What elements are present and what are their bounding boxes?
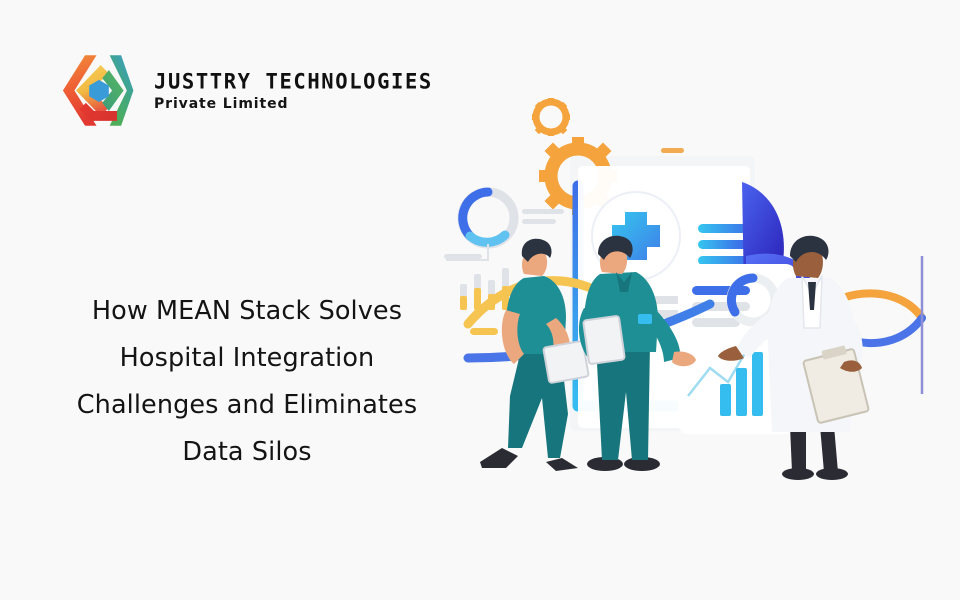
company-suffix: Private Limited [154, 96, 433, 112]
clipboard-icon [583, 316, 625, 365]
shoe-right [816, 468, 848, 480]
leg-left [790, 426, 806, 472]
yellow-chip-accent [470, 328, 498, 335]
left-label-lines [522, 209, 564, 224]
gear-small-icon [532, 98, 570, 136]
headline-line-2: Hospital Integration [62, 335, 432, 382]
leg-right [820, 426, 838, 472]
pocket-badge [638, 314, 652, 324]
headline-line-3: Challenges and Eliminates [62, 382, 432, 429]
hexagon-chevron-logo-icon [58, 52, 140, 128]
brand-lockup: JUSTTRY TECHNOLOGIES Private Limited [58, 52, 433, 128]
shoe-left [782, 468, 814, 480]
headline-line-4: Data Silos [62, 429, 432, 476]
company-name: JUSTTRY TECHNOLOGIES [154, 68, 433, 93]
poster-canvas: JUSTTRY TECHNOLOGIES Private Limited How… [0, 0, 960, 600]
donut-chart-left [462, 192, 514, 244]
shoe-left [480, 448, 518, 468]
headline-line-1: How MEAN Stack Solves [62, 288, 432, 335]
orange-dash-accent [661, 148, 684, 153]
page-title: How MEAN Stack Solves Hospital Integrati… [62, 288, 432, 476]
left-label-small [444, 254, 482, 259]
tablet-icon [543, 341, 589, 383]
shoe-right [546, 458, 578, 471]
brand-text-block: JUSTTRY TECHNOLOGIES Private Limited [154, 69, 433, 112]
hospital-data-integration-illustration [410, 96, 955, 486]
